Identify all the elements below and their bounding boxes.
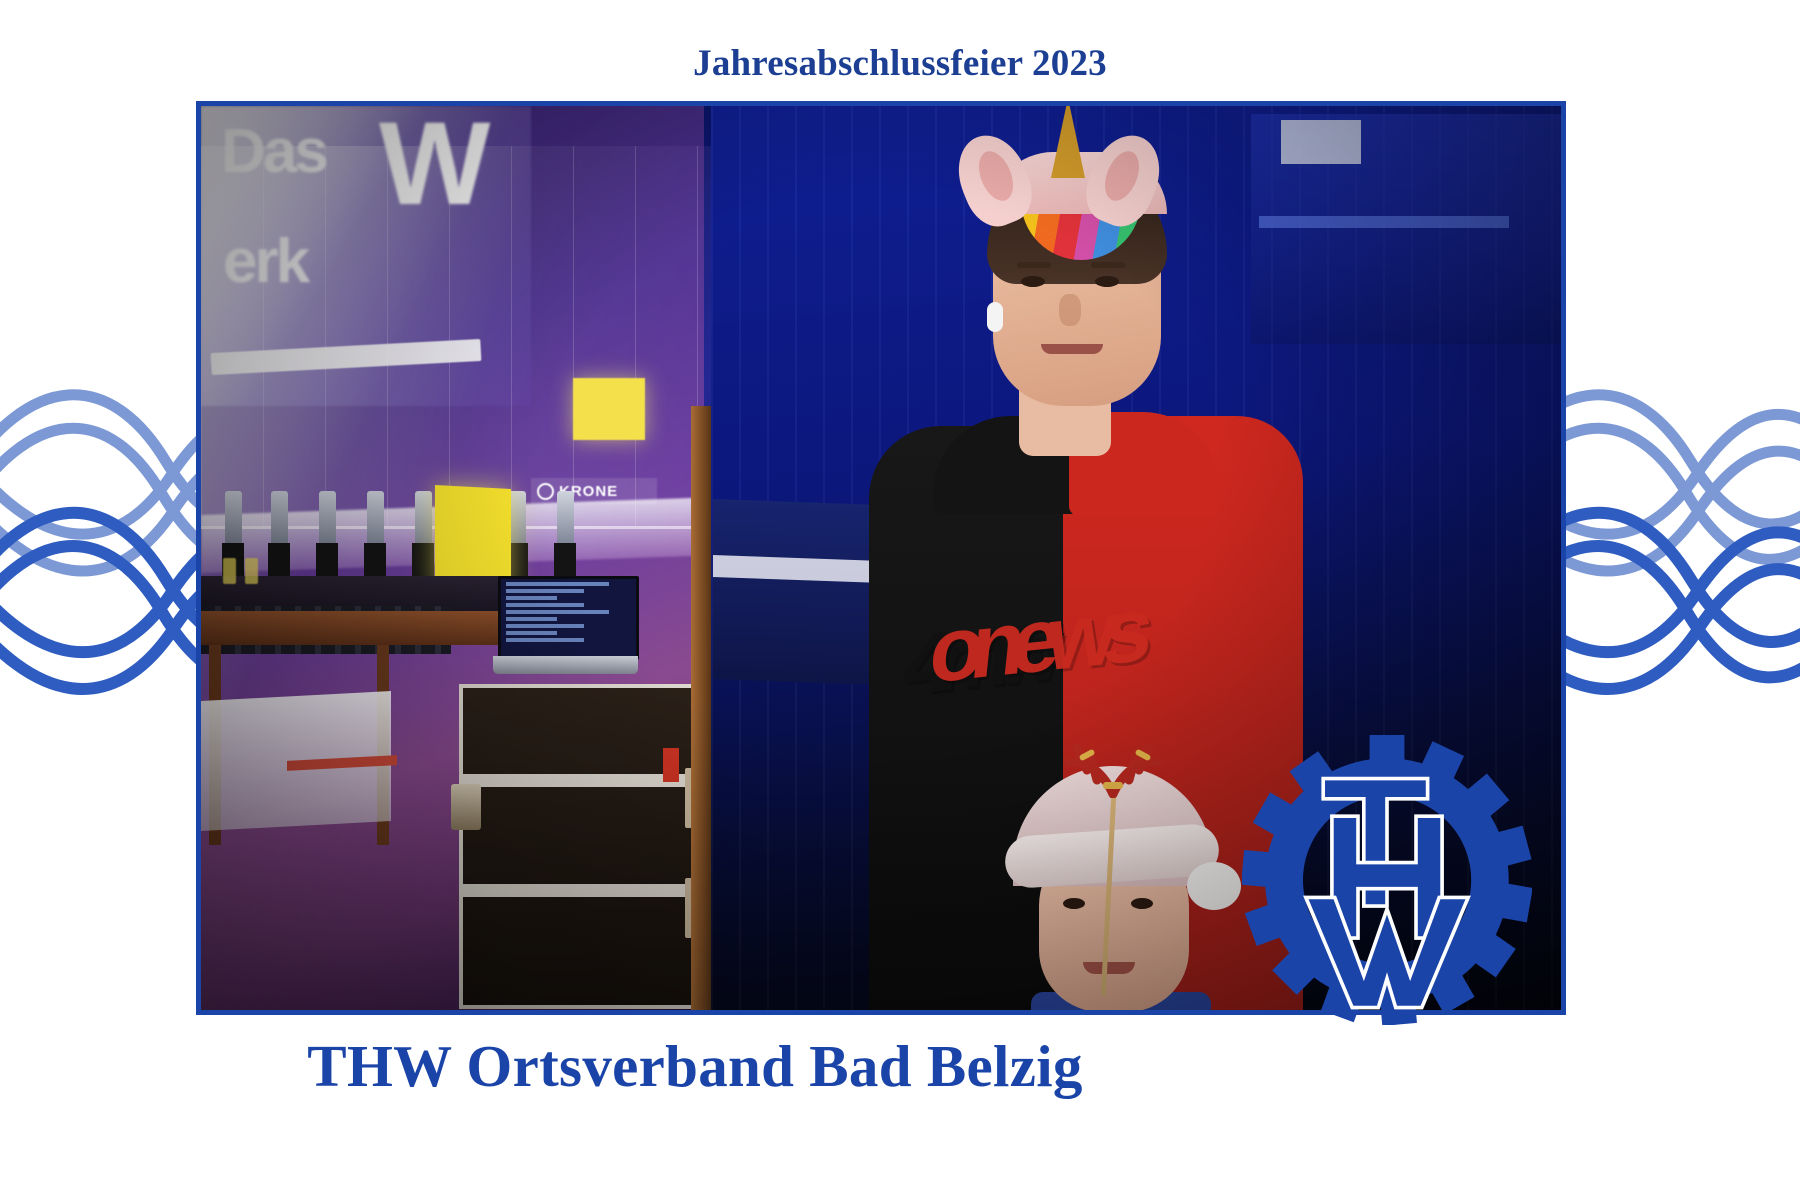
thw-gear-logo (1242, 735, 1532, 1025)
photo-card-page: Jahresabschlussfeier 2023 Das erk W KRON… (0, 0, 1800, 1200)
page-title: Jahresabschlussfeier 2023 (0, 42, 1800, 85)
organization-name: THW Ortsverband Bad Belzig (160, 1032, 1230, 1101)
